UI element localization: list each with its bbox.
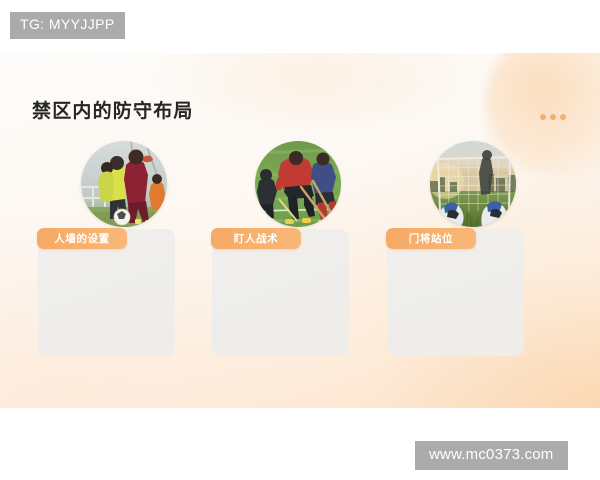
indoor-soccer-players-jumping-photo xyxy=(81,141,167,227)
watermark-bottom-right: www.mc0373.com xyxy=(415,441,568,470)
goalkeeper-gloves-behind-net-photo xyxy=(430,141,516,227)
watermark-top-left: TG: MYYJJPP xyxy=(10,12,125,39)
slide-canvas: 禁区内的防守布局 xyxy=(0,53,600,408)
content-column: 盯人战术 防守球员需要紧密盯防对方的高点球员，防止他们利用身高优势抢到第一落点。 xyxy=(211,53,386,408)
content-column: 门将站位 门将在角球防守时的站位也十分关键，通常会站在球门线附近，准备扑救可能的… xyxy=(386,53,561,408)
card-badge-label: 盯人战术 xyxy=(211,228,301,249)
columns-container: 人墙的设置 在角球防守中，人墙的设置至关重要，通常由身材高大的球员组成，目的是阻… xyxy=(0,53,600,408)
field-hockey-players-marking-photo xyxy=(255,141,341,227)
content-column: 人墙的设置 在角球防守中，人墙的设置至关重要，通常由身材高大的球员组成，目的是阻… xyxy=(37,53,212,408)
card-badge-label: 人墙的设置 xyxy=(37,228,127,249)
card-badge-label: 门将站位 xyxy=(386,228,476,249)
